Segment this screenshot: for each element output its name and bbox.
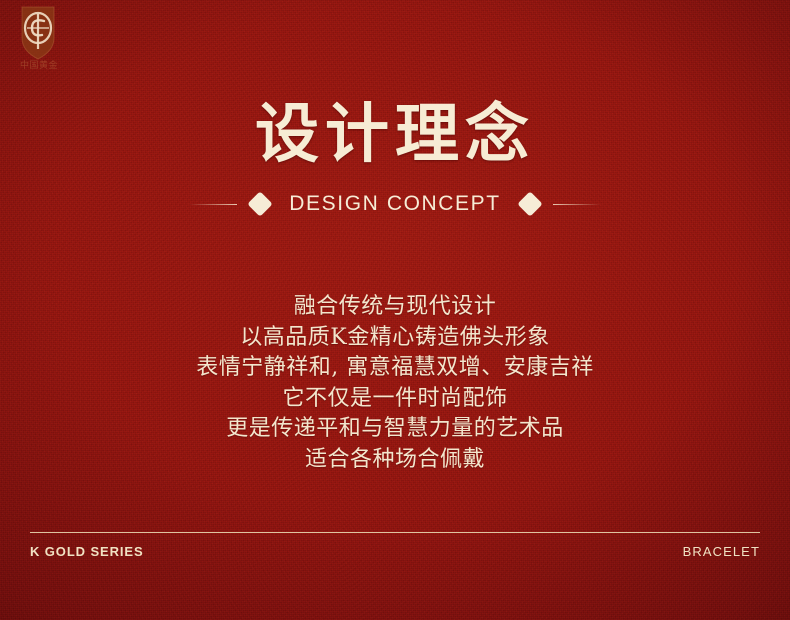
heading-block: 设计理念 DESIGN CONCEPT	[0, 96, 790, 216]
diamond-icon-right	[517, 191, 542, 216]
footer-divider	[30, 532, 760, 533]
page-subtitle: DESIGN CONCEPT	[283, 192, 506, 216]
footer-row: K GOLD SERIES BRACELET	[30, 544, 760, 559]
design-concept-banner: 中国黄金 设计理念 DESIGN CONCEPT 融合传统与现代设计 以高品质K…	[0, 0, 790, 620]
footer-product-label: BRACELET	[683, 544, 760, 559]
body-line: 它不仅是一件时尚配饰	[0, 384, 790, 415]
shield-icon	[8, 4, 68, 62]
brand-logo: 中国黄金	[8, 4, 68, 74]
diamond-icon-left	[248, 191, 273, 216]
body-line: 适合各种场合佩戴	[0, 445, 790, 476]
body-line: 以高品质K金精心铸造佛头形象	[0, 323, 790, 354]
ornament-rule-left	[189, 204, 237, 205]
subtitle-row: DESIGN CONCEPT	[0, 192, 790, 216]
body-line: 表情宁静祥和, 寓意福慧双增、安康吉祥	[0, 353, 790, 384]
brand-logo-caption: 中国黄金	[10, 58, 68, 71]
ornament-rule-right	[553, 204, 601, 205]
body-line: 更是传递平和与智慧力量的艺术品	[0, 414, 790, 445]
body-line: 融合传统与现代设计	[0, 292, 790, 323]
footer-series-label: K GOLD SERIES	[30, 544, 144, 559]
page-title: 设计理念	[0, 96, 790, 174]
body-copy: 融合传统与现代设计 以高品质K金精心铸造佛头形象 表情宁静祥和, 寓意福慧双增、…	[0, 292, 790, 476]
footer: K GOLD SERIES BRACELET	[30, 532, 760, 559]
